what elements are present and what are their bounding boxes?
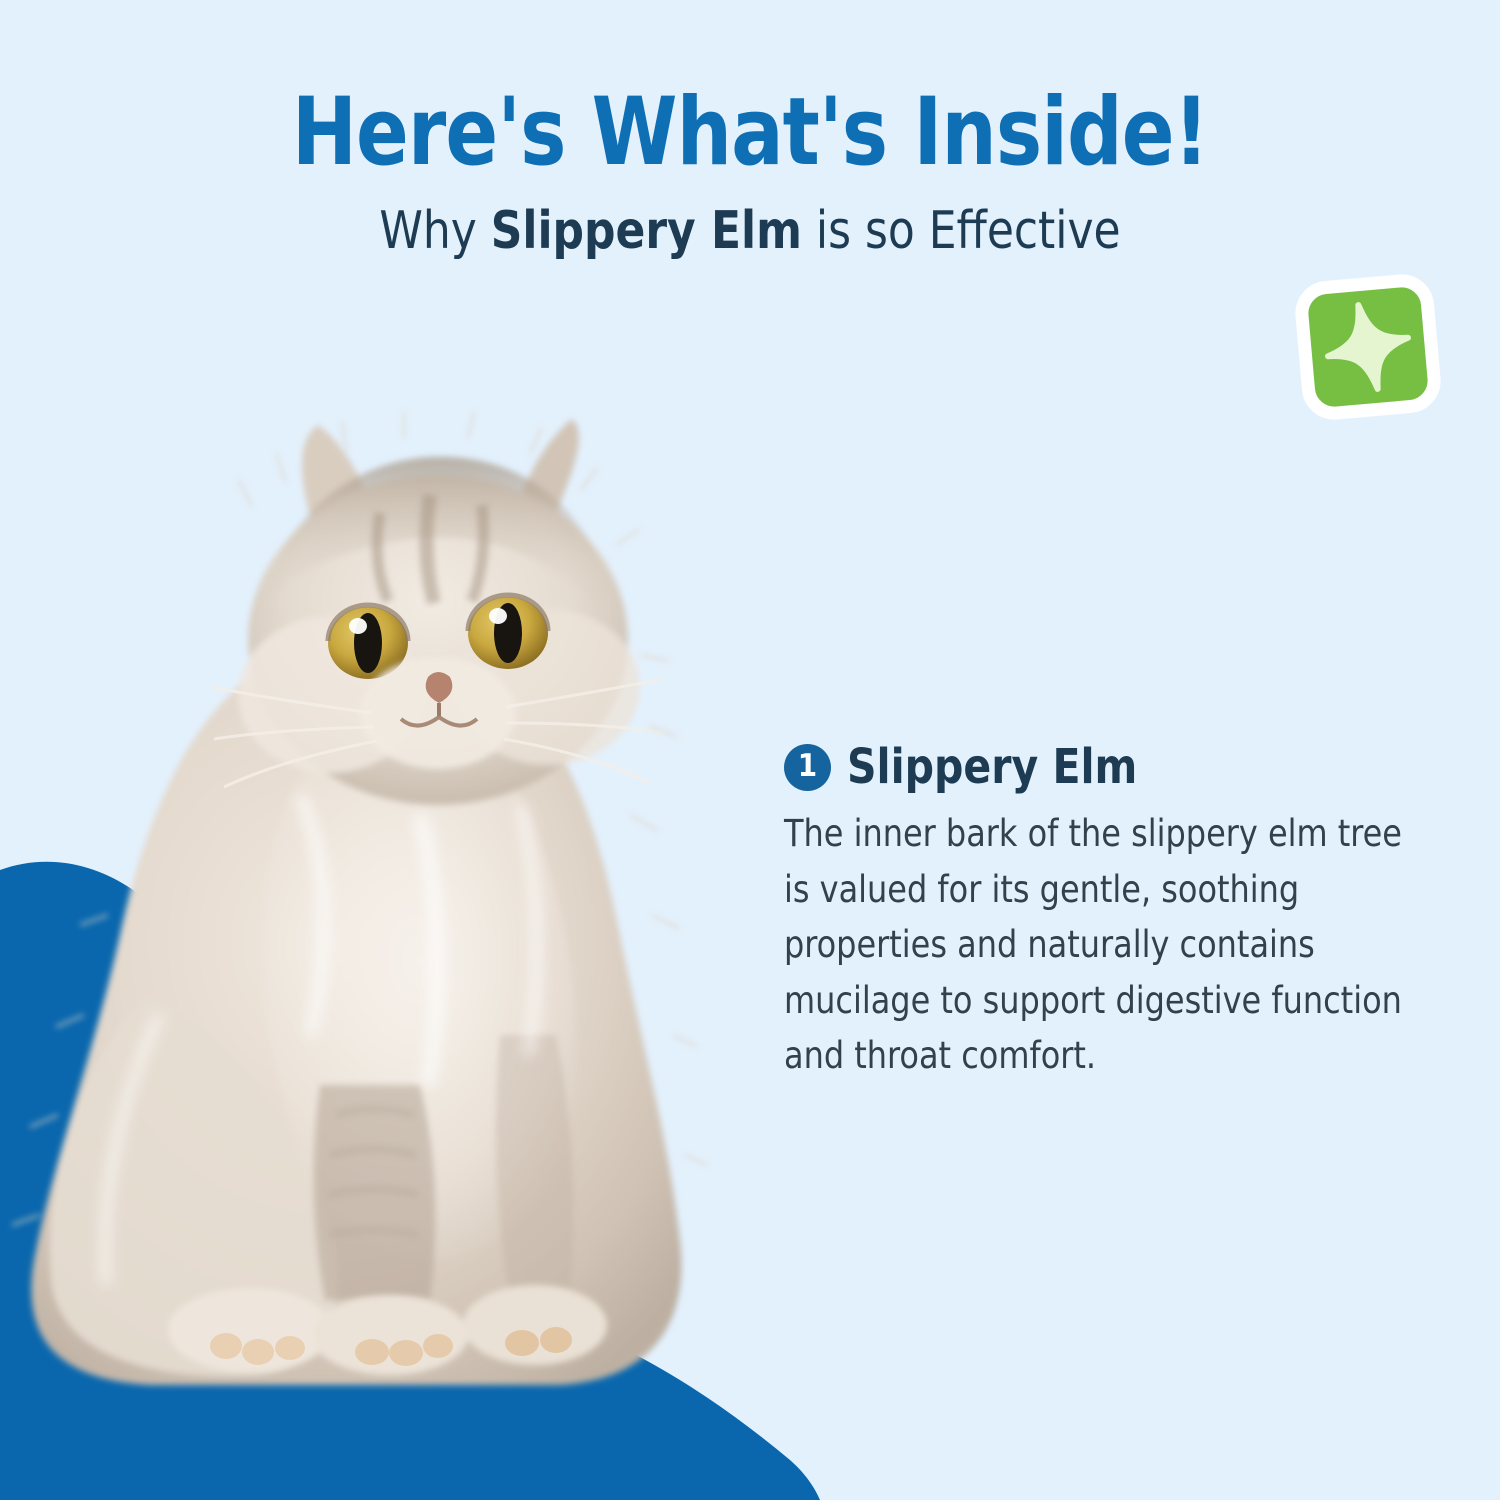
fluffy-persian-cat-photo — [0, 395, 760, 1395]
subtitle-prefix: Why — [379, 201, 490, 261]
ingredient-info-block: 1 Slippery Elm The inner bark of the sli… — [784, 742, 1474, 1084]
sparkle-badge-icon — [1291, 270, 1445, 424]
ingredient-title: Slippery Elm — [847, 742, 1137, 792]
subtitle-emphasis: Slippery Elm — [491, 201, 802, 261]
poster-header: Here's What's Inside! Why Slippery Elm i… — [0, 86, 1500, 259]
product-ingredient-poster: Here's What's Inside! Why Slippery Elm i… — [0, 0, 1500, 1500]
page-title: Here's What's Inside! — [60, 86, 1440, 180]
ingredient-description: The inner bark of the slippery elm tree … — [784, 806, 1429, 1084]
ingredient-heading-row: 1 Slippery Elm — [784, 742, 1474, 792]
page-subtitle: Why Slippery Elm is so Effective — [45, 204, 1455, 259]
subtitle-suffix: is so Effective — [802, 201, 1121, 261]
ingredient-number-badge: 1 — [784, 744, 831, 791]
